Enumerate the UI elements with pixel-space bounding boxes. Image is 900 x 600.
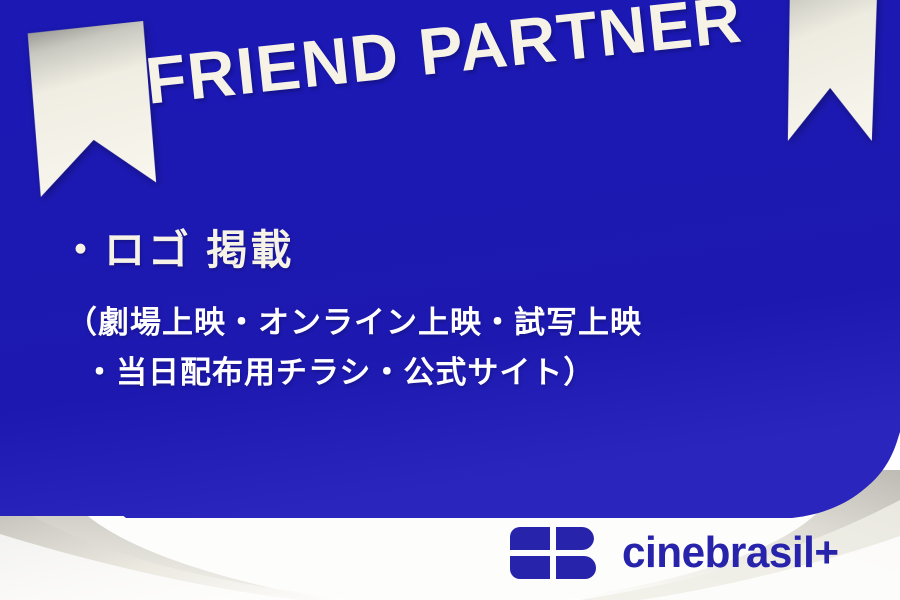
benefit-detail-line-2: ・当日配布用チラシ・公式サイト） bbox=[0, 348, 900, 398]
ribbon-left-icon bbox=[21, 19, 161, 201]
bookmark-ribbon-right bbox=[782, 0, 882, 146]
benefit-detail-line-1: （劇場上映・オンライン上映・試写上映 bbox=[0, 298, 900, 348]
slide-canvas: FRIEND PARTNER ・ロゴ 掲載 （劇場上映・オンライン上映・試写上映… bbox=[0, 0, 900, 600]
brand-wordmark: cinebrasil+ bbox=[622, 531, 839, 575]
brand-logo: cinebrasil+ bbox=[506, 524, 848, 582]
benefit-item-logo-placement: ・ロゴ 掲載 bbox=[0, 225, 900, 276]
ribbon-right-icon bbox=[782, 0, 882, 146]
benefit-list: ・ロゴ 掲載 （劇場上映・オンライン上映・試写上映 ・当日配布用チラシ・公式サイ… bbox=[0, 225, 900, 397]
bookmark-ribbon-left bbox=[21, 19, 161, 201]
cb-monogram-icon bbox=[506, 526, 608, 580]
